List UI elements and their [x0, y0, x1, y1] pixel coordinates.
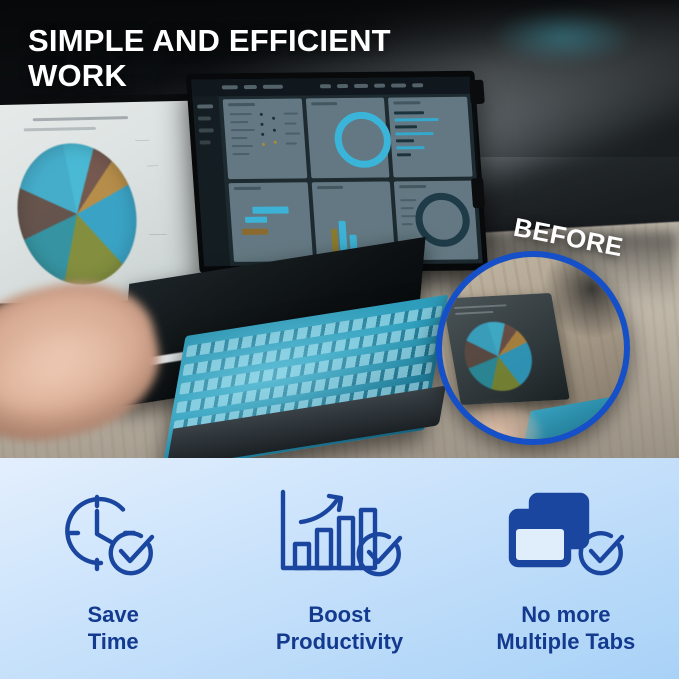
benefit-label: Boost Productivity [276, 602, 403, 656]
benefit-label: No more Multiple Tabs [496, 602, 635, 656]
teal-light-accent [489, 9, 638, 64]
panel-bar-list [388, 97, 472, 177]
clock-check-icon [61, 482, 165, 588]
bar-chart-growth-check-icon [273, 482, 405, 588]
dashboard-panels [223, 97, 479, 262]
marketing-image: ───── ──── ─── ──── ─── ───── [0, 0, 679, 679]
benefit-label: Save Time [87, 602, 138, 656]
left-monitor-pie-chart [11, 142, 143, 286]
benefit-no-more-multiple-tabs: No more Multiple Tabs [453, 482, 679, 656]
center-monitor-screen [191, 77, 483, 266]
before-pie-chart [459, 320, 538, 392]
before-laptop [442, 293, 569, 405]
center-monitor [186, 71, 488, 274]
panel-horizontal-bars [228, 182, 312, 262]
monitor-hinge-bottom [471, 178, 485, 209]
panel-donut-chart [305, 98, 389, 178]
panel-data-table [223, 98, 307, 178]
benefits-bar: Save Time [0, 458, 679, 679]
benefit-save-time: Save Time [0, 482, 226, 656]
left-monitor-screen: ───── ──── ─── ──── ─── ───── [0, 101, 208, 304]
benefit-boost-productivity: Boost Productivity [226, 482, 452, 656]
before-circle [436, 251, 630, 445]
hero-photo: ───── ──── ─── ──── ─── ───── [0, 0, 679, 462]
page-title: SIMPLE AND EFFICIENT WORK [28, 24, 448, 93]
windows-tabs-check-icon [505, 482, 627, 588]
